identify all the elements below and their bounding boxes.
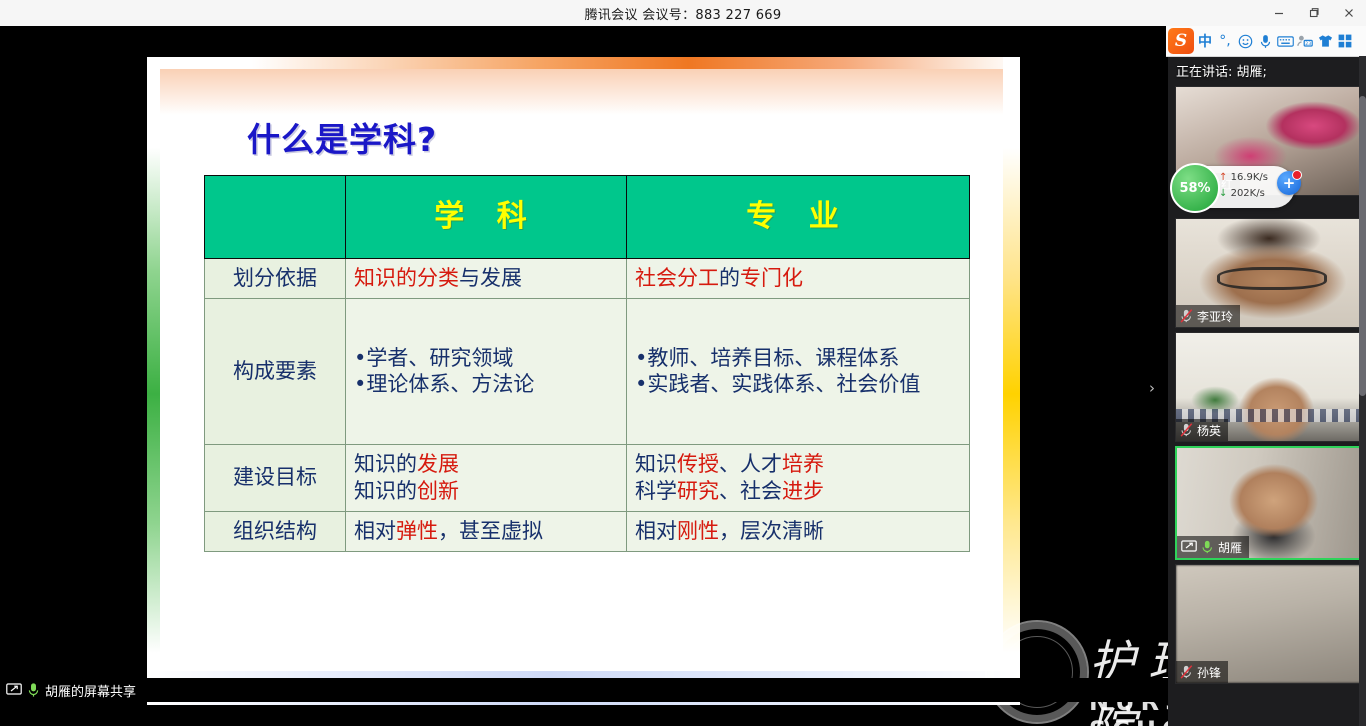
table-body: 划分依据知识的分类与发展社会分工的专门化构成要素•学者、研究领域•理论体系、方法… — [205, 259, 970, 552]
slide-left-stripe — [147, 57, 160, 705]
row-label: 构成要素 — [205, 298, 346, 444]
shared-screen-stage: 什么是学科? 学 科 专 业 划分依据知识的分类与发展社会分工的专门化构成要素•… — [0, 26, 1168, 702]
participant-name-bar: 杨英 — [1176, 419, 1228, 441]
voice-input-icon[interactable] — [1256, 28, 1274, 54]
tencent-meeting-window: 腾讯会议 会议号：883 227 669 — [0, 0, 1366, 726]
punctuation-icon[interactable]: °, — [1216, 28, 1234, 54]
slide-top-band — [147, 57, 1020, 69]
minimize-button[interactable] — [1261, 0, 1296, 26]
screen-share-status-bar: 胡雁的屏幕共享 — [0, 678, 1174, 702]
table-row: 组织结构相对弹性，甚至虚拟相对刚性，层次清晰 — [205, 511, 970, 551]
cell-major: •教师、培养目标、课程体系•实践者、实践体系、社会价值 — [627, 298, 970, 444]
slide-title: 什么是学科? — [247, 113, 437, 161]
sidebar-scrollbar[interactable] — [1359, 56, 1366, 726]
cell-major: 相对刚性，层次清晰 — [627, 511, 970, 551]
close-icon — [1343, 7, 1355, 19]
discipline-comparison-table: 学 科 专 业 划分依据知识的分类与发展社会分工的专门化构成要素•学者、研究领域… — [204, 175, 970, 552]
sogou-logo-icon[interactable]: S — [1168, 28, 1194, 54]
cell-discipline: 知识的发展知识的创新 — [346, 444, 627, 511]
download-arrow-icon: ↓ — [1219, 188, 1227, 199]
presentation-slide: 什么是学科? 学 科 专 业 划分依据知识的分类与发展社会分工的专门化构成要素•… — [147, 57, 1020, 705]
table-row: 建设目标知识的发展知识的创新知识传授、人才培养科学研究、社会进步 — [205, 444, 970, 511]
header-discipline: 学 科 — [346, 176, 627, 259]
cell-discipline: 知识的分类与发展 — [346, 259, 627, 299]
participant-name: 孙锋 — [1197, 664, 1221, 681]
participant-name-bar: 李亚玲 — [1176, 305, 1240, 327]
collapse-sidebar-button[interactable]: › — [1141, 366, 1163, 410]
minimize-icon — [1273, 7, 1285, 19]
share-status-text: 胡雁的屏幕共享 — [45, 681, 136, 700]
svg-text:23: 23 — [1305, 41, 1311, 47]
participant-tile[interactable]: 李亚玲 — [1175, 218, 1363, 328]
network-rates: ↑ 16.9K/s ↓ 202K/s — [1219, 170, 1268, 202]
active-microphone-icon — [1201, 539, 1214, 555]
header-major: 专 业 — [627, 176, 970, 259]
muted-microphone-icon — [1180, 422, 1193, 438]
network-quality-percent: 58% — [1170, 163, 1220, 213]
cell-major: 知识传授、人才培养科学研究、社会进步 — [627, 444, 970, 511]
close-button[interactable] — [1331, 0, 1366, 26]
participant-name-bar: 孙锋 — [1176, 661, 1228, 683]
toolbox-icon[interactable] — [1336, 28, 1354, 54]
cell-discipline: 相对弹性，甚至虚拟 — [346, 511, 627, 551]
participant-tile[interactable]: 孙锋 — [1175, 564, 1363, 684]
soft-keyboard-icon[interactable] — [1276, 28, 1294, 54]
sidebar-scrollbar-thumb[interactable] — [1359, 96, 1366, 396]
cell-discipline: •学者、研究领域•理论体系、方法论 — [346, 298, 627, 444]
muted-microphone-icon — [1180, 664, 1193, 680]
participant-name-bar: 胡雁 — [1177, 536, 1249, 558]
row-label: 组织结构 — [205, 511, 346, 551]
screen-share-icon — [1181, 540, 1197, 554]
window-controls — [1261, 0, 1366, 26]
network-speed-widget[interactable]: 58% ↑ 16.9K/s ↓ 202K/s + — [1173, 166, 1295, 208]
participant-name: 杨英 — [1197, 422, 1221, 439]
emoji-icon[interactable] — [1236, 28, 1254, 54]
muted-microphone-icon — [1180, 308, 1193, 324]
sogou-ime-toolbar[interactable]: S 中 °, 23 — [1166, 26, 1366, 57]
restore-icon — [1308, 7, 1320, 19]
microphone-icon — [27, 682, 40, 698]
participant-sidebar: › S 中 °, 23 正在讲话: 胡雁; — [1168, 26, 1366, 726]
download-rate: 202K/s — [1231, 188, 1265, 199]
current-speaker-label: 正在讲话: 胡雁; — [1168, 56, 1366, 84]
slide-top-fade — [147, 69, 1020, 115]
row-label: 划分依据 — [205, 259, 346, 299]
header-blank — [205, 176, 346, 259]
table-row: 构成要素•学者、研究领域•理论体系、方法论•教师、培养目标、课程体系•实践者、实… — [205, 298, 970, 444]
participant-tile[interactable]: 杨英 — [1175, 332, 1363, 442]
network-boost-button[interactable]: + — [1277, 171, 1301, 195]
skin-icon[interactable] — [1316, 28, 1334, 54]
table-header-row: 学 科 专 业 — [205, 176, 970, 259]
restore-button[interactable] — [1296, 0, 1331, 26]
screen-share-icon — [6, 683, 22, 697]
table-row: 划分依据知识的分类与发展社会分工的专门化 — [205, 259, 970, 299]
row-label: 建设目标 — [205, 444, 346, 511]
table-head: 学 科 专 业 — [205, 176, 970, 259]
handwriting-icon[interactable]: 23 — [1296, 28, 1314, 54]
upload-rate: 16.9K/s — [1231, 172, 1268, 183]
participant-tile[interactable]: 胡雁 — [1175, 446, 1365, 560]
chinese-mode-icon[interactable]: 中 — [1196, 28, 1214, 54]
title-bar: 腾讯会议 会议号：883 227 669 — [0, 0, 1366, 27]
meeting-title: 腾讯会议 会议号：883 227 669 — [585, 4, 782, 23]
slide-right-stripe — [1003, 57, 1020, 705]
upload-arrow-icon: ↑ — [1219, 172, 1227, 183]
participant-name: 李亚玲 — [1197, 308, 1233, 325]
participant-name: 胡雁 — [1218, 539, 1242, 556]
cell-major: 社会分工的专门化 — [627, 259, 970, 299]
